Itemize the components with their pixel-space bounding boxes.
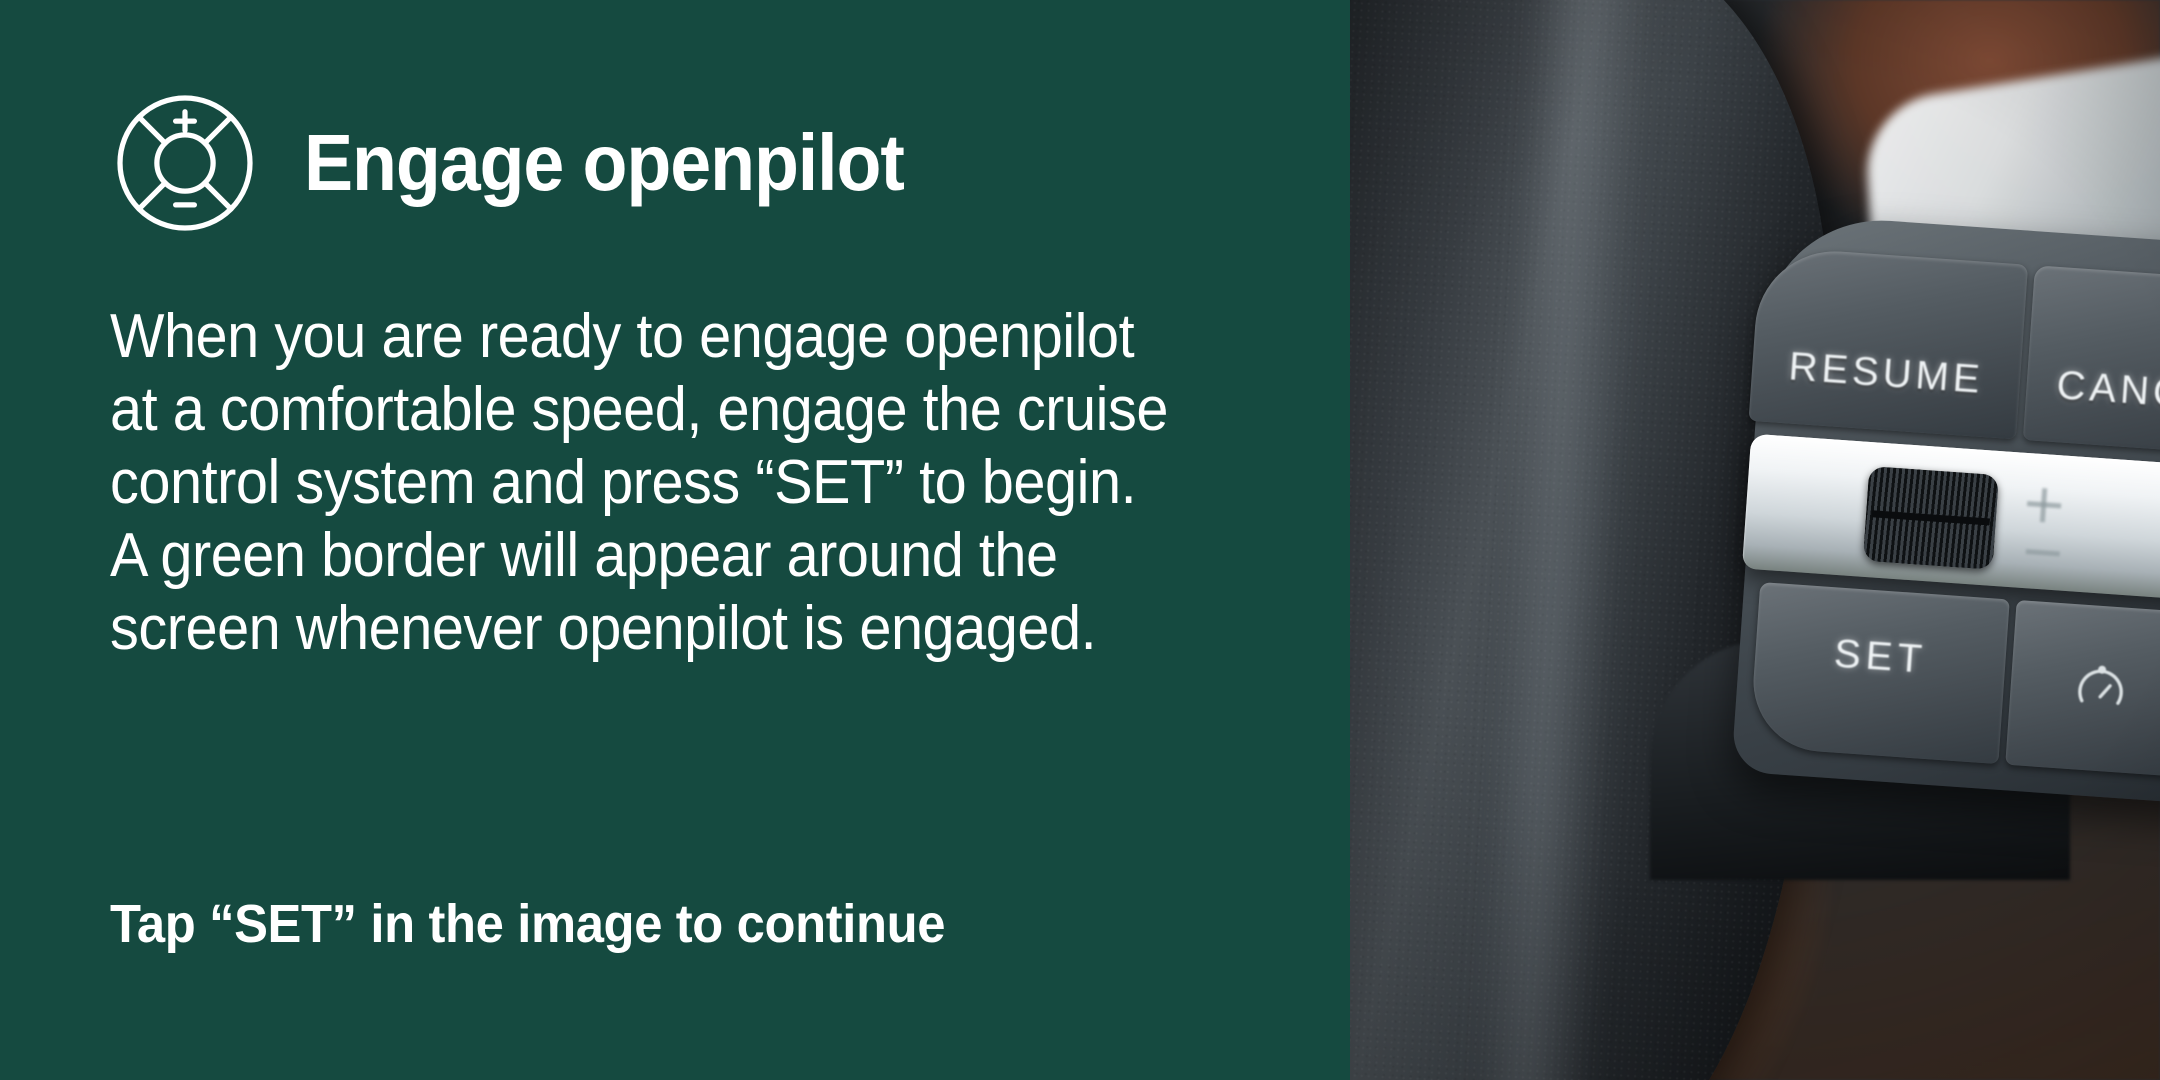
speed-gauge-icon	[2068, 655, 2134, 721]
steering-wheel-photo[interactable]: RESUME CANCE SET	[1350, 0, 2160, 1080]
set-button[interactable]: SET	[1749, 582, 2010, 764]
body-line: control system and press “SET” to begin.	[110, 446, 1161, 519]
body-line: screen whenever openpilot is engaged.	[110, 592, 1161, 665]
page-title: Engage openpilot	[304, 123, 904, 203]
cancel-button-label: CANCE	[2055, 363, 2160, 419]
set-button-label: SET	[1833, 631, 1929, 682]
cancel-button[interactable]: CANCE	[2023, 265, 2160, 457]
steering-wheel-photo-panel[interactable]: RESUME CANCE SET	[1350, 0, 2160, 1080]
panel-spacer	[110, 665, 1240, 895]
resume-button[interactable]: RESUME	[1749, 246, 2029, 439]
body-line: A green border will appear around the	[110, 519, 1161, 592]
tutorial-screen: Engage openpilot When you are ready to e…	[0, 0, 2160, 1080]
instruction-panel: Engage openpilot When you are ready to e…	[0, 0, 1350, 1080]
distance-gauge-button[interactable]	[2005, 600, 2160, 777]
rocker-knurled-thumbwheel[interactable]	[1863, 466, 1999, 570]
instruction-body: When you are ready to engage openpilot a…	[110, 300, 1161, 665]
call-to-action-text: Tap “SET” in the image to continue	[110, 895, 1172, 954]
panel-header: Engage openpilot	[110, 88, 1240, 238]
body-line: When you are ready to engage openpilot	[110, 300, 1161, 373]
body-line: at a comfortable speed, engage the cruis…	[110, 373, 1161, 446]
cruise-control-wheel-icon	[110, 88, 260, 238]
rocker-minus-icon	[2026, 549, 2060, 556]
resume-button-label: RESUME	[1787, 344, 1985, 403]
